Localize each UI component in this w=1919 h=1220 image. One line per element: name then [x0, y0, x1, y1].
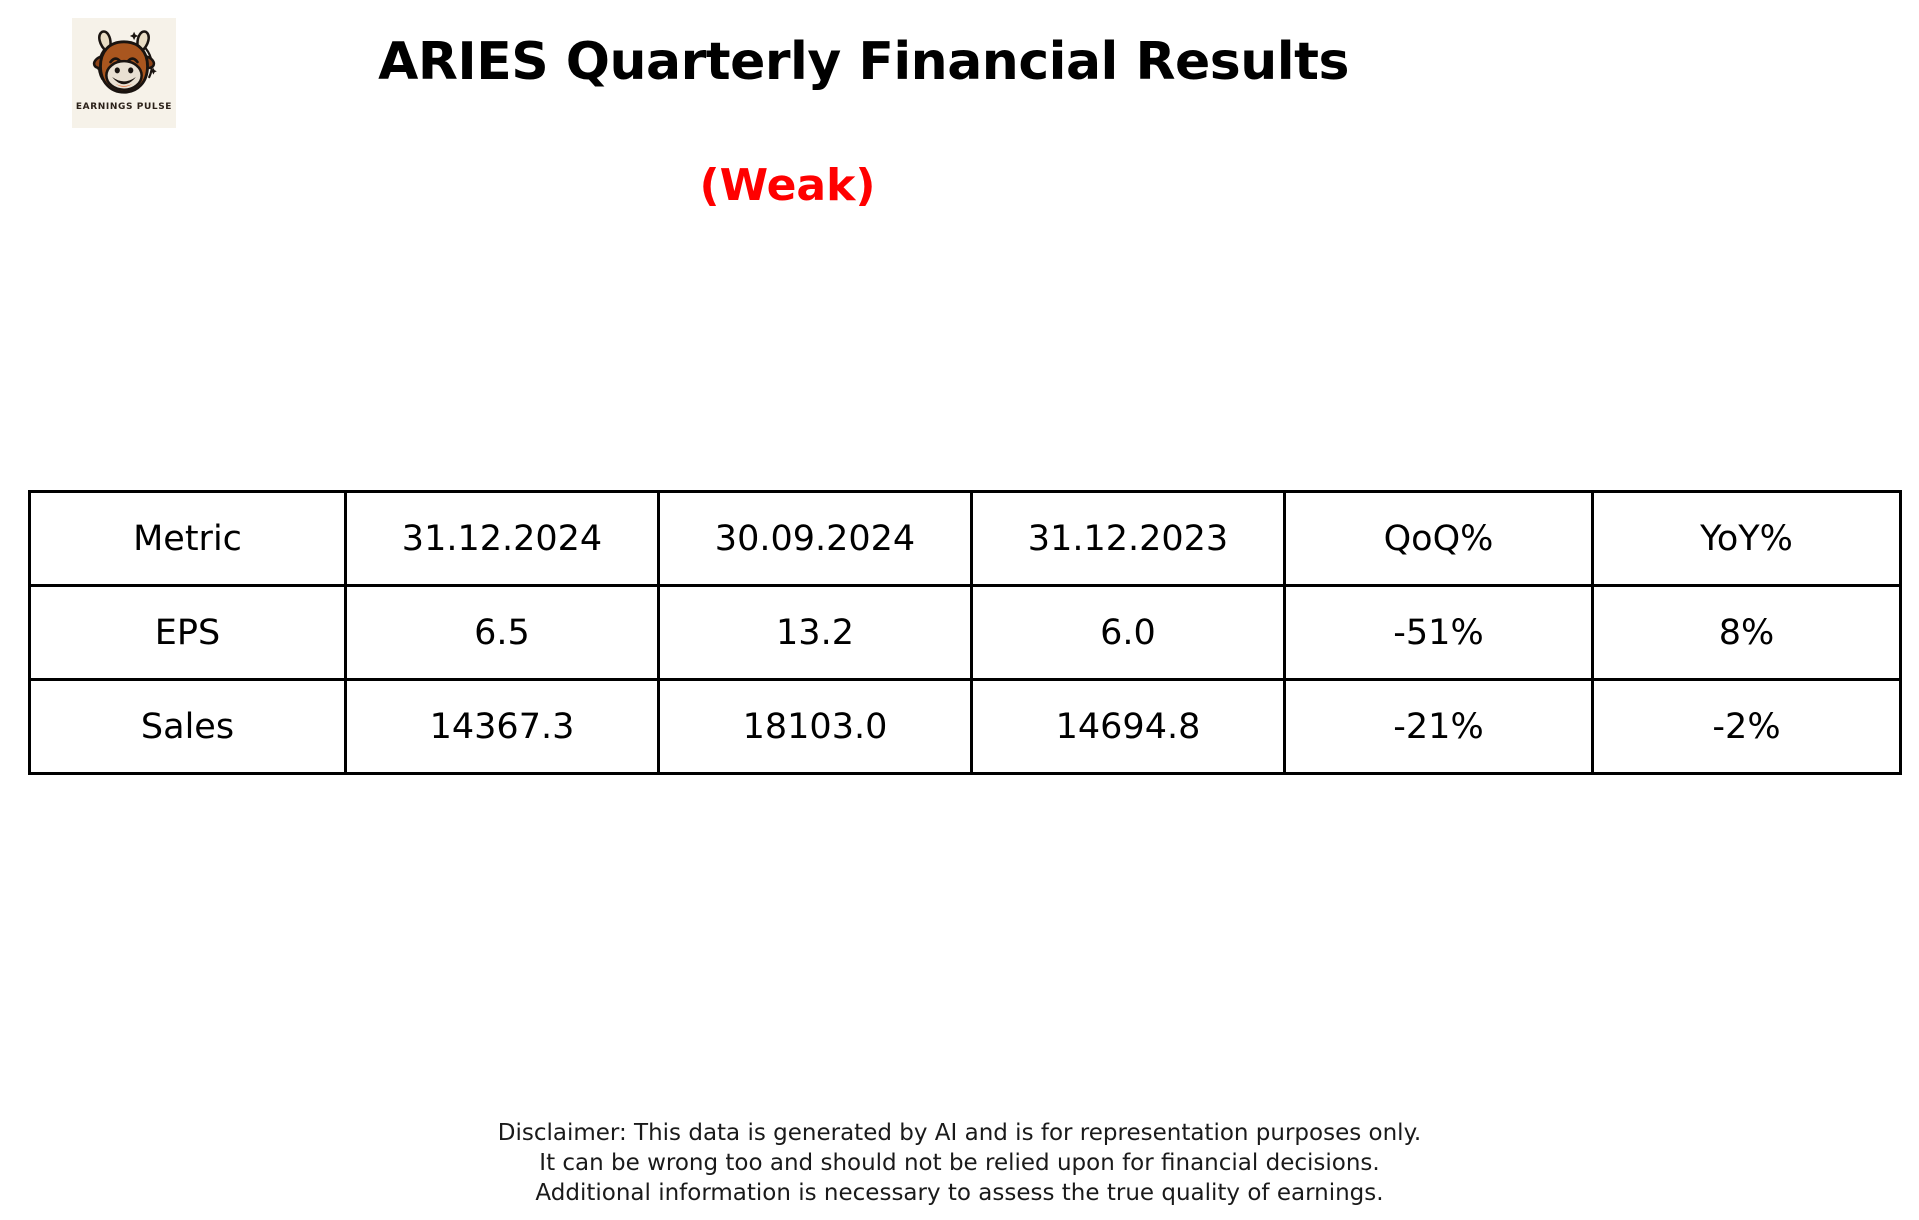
- cell-previous-quarter: 13.2: [659, 586, 972, 680]
- page-title: ARIES Quarterly Financial Results: [0, 32, 1823, 92]
- page-subtitle: (Weak): [0, 160, 1747, 211]
- column-header-metric: Metric: [30, 492, 346, 586]
- disclaimer: Disclaimer: This data is generated by AI…: [0, 1118, 1919, 1208]
- financial-results-table: Metric 31.12.2024 30.09.2024 31.12.2023 …: [28, 490, 1902, 775]
- disclaimer-line-2: It can be wrong too and should not be re…: [0, 1148, 1919, 1178]
- table-header-row: Metric 31.12.2024 30.09.2024 31.12.2023 …: [30, 492, 1901, 586]
- logo-wordmark: EARNINGS PULSE: [76, 102, 172, 112]
- disclaimer-line-1: Disclaimer: This data is generated by AI…: [0, 1118, 1919, 1148]
- cell-year-ago-quarter: 6.0: [972, 586, 1285, 680]
- disclaimer-line-3: Additional information is necessary to a…: [0, 1178, 1919, 1208]
- cell-yoy-pct: 8%: [1593, 586, 1901, 680]
- cell-metric-name: Sales: [30, 680, 346, 774]
- cell-previous-quarter: 18103.0: [659, 680, 972, 774]
- column-header-period-3: 31.12.2023: [972, 492, 1285, 586]
- cell-metric-name: EPS: [30, 586, 346, 680]
- cell-qoq-pct: -51%: [1285, 586, 1593, 680]
- column-header-period-1: 31.12.2024: [346, 492, 659, 586]
- cell-current-quarter: 6.5: [346, 586, 659, 680]
- table-row: Sales 14367.3 18103.0 14694.8 -21% -2%: [30, 680, 1901, 774]
- table-row: EPS 6.5 13.2 6.0 -51% 8%: [30, 586, 1901, 680]
- column-header-qoq: QoQ%: [1285, 492, 1593, 586]
- cell-yoy-pct: -2%: [1593, 680, 1901, 774]
- cell-year-ago-quarter: 14694.8: [972, 680, 1285, 774]
- cell-qoq-pct: -21%: [1285, 680, 1593, 774]
- column-header-yoy: YoY%: [1593, 492, 1901, 586]
- cell-current-quarter: 14367.3: [346, 680, 659, 774]
- column-header-period-2: 30.09.2024: [659, 492, 972, 586]
